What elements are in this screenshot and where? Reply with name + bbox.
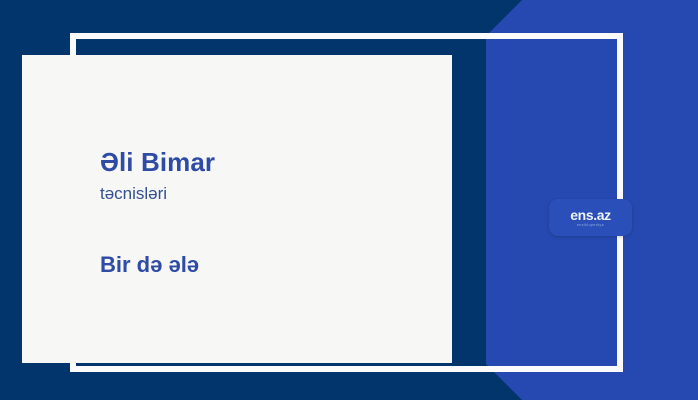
content-card: Əli Bimar təcnisləri Bir də ələ (22, 55, 452, 363)
page-subtitle: təcnisləri (100, 184, 436, 204)
logo-subtext: ensiklopediya (577, 224, 604, 227)
card-text-block: Əli Bimar təcnisləri Bir də ələ (100, 147, 436, 278)
promo-banner: Əli Bimar təcnisləri Bir də ələ ens.az e… (0, 0, 698, 400)
ens-az-logo-badge[interactable]: ens.az ensiklopediya (549, 199, 632, 236)
logo-wordmark: ens.az (570, 208, 610, 222)
page-title: Əli Bimar (100, 147, 436, 178)
page-tagline: Bir də ələ (100, 252, 436, 278)
